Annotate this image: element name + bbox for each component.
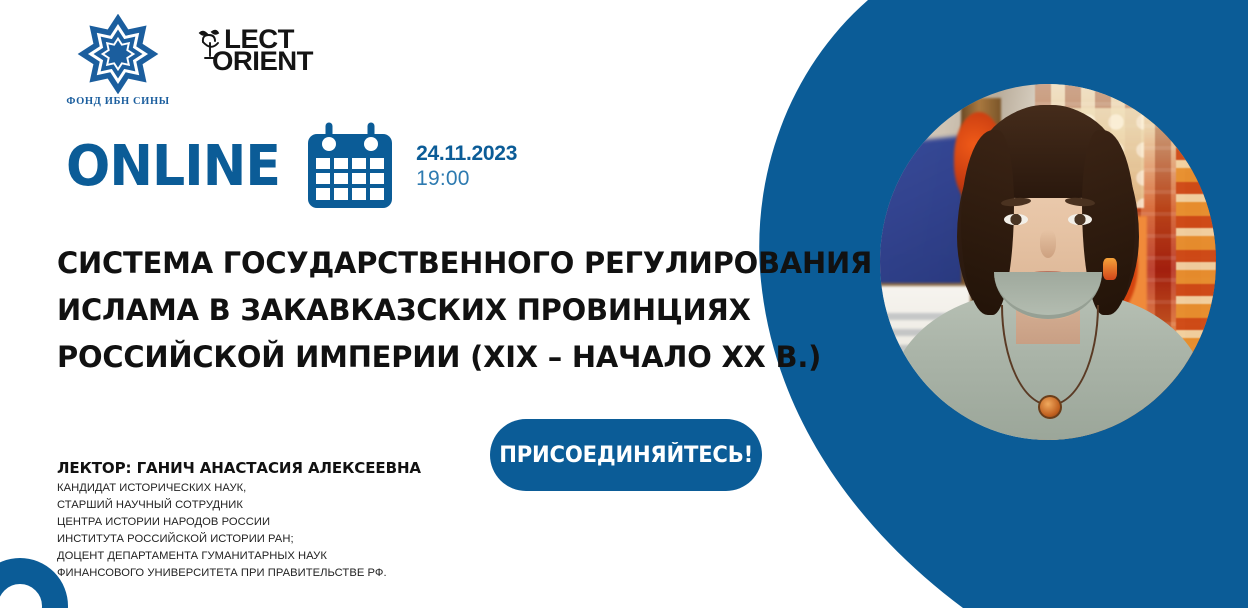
speaker-portrait xyxy=(880,84,1216,440)
calendar-icon xyxy=(302,122,398,212)
credential-line: ЦЕНТРА ИСТОРИИ НАРОДОВ РОССИИ xyxy=(57,514,432,531)
lect-orient-logo: LECT ORIENT xyxy=(198,28,312,72)
online-label: ONLINE xyxy=(66,139,280,195)
webinar-poster: ФОНД ИБН СИНЫ LECT ORIENT ONLINE xyxy=(0,0,1248,608)
lecturer-credentials: КАНДИДАТ ИСТОРИЧЕСКИХ НАУК, СТАРШИЙ НАУЧ… xyxy=(57,480,432,582)
event-datetime: 24.11.2023 19:00 xyxy=(416,142,517,192)
title-line-3: РОССИЙСКОЙ ИМПЕРИИ (XIX – НАЧАЛО XX В.) xyxy=(57,334,743,381)
lect-orient-line2: ORIENT xyxy=(212,50,313,72)
page-title: СИСТЕМА ГОСУДАРСТВЕННОГО РЕГУЛИРОВАНИЯ И… xyxy=(57,240,743,382)
credential-line: ФИНАНСОВОГО УНИВЕРСИТЕТА ПРИ ПРАВИТЕЛЬСТ… xyxy=(57,565,432,582)
logo-row: ФОНД ИБН СИНЫ LECT ORIENT xyxy=(62,14,312,107)
ibn-sina-foundation-logo: ФОНД ИБН СИНЫ xyxy=(62,14,174,107)
join-button[interactable]: ПРИСОЕДИНЯЙТЕСЬ! xyxy=(490,419,762,491)
title-line-2: ИСЛАМА В ЗАКАВКАЗСКИХ ПРОВИНЦИЯХ xyxy=(57,287,743,334)
event-time: 19:00 xyxy=(416,167,517,192)
title-line-1: СИСТЕМА ГОСУДАРСТВЕННОГО РЕГУЛИРОВАНИЯ xyxy=(57,240,743,287)
event-mode-row: ONLINE 24.11.2023 19:00 xyxy=(66,122,517,212)
credential-line: КАНДИДАТ ИСТОРИЧЕСКИХ НАУК, xyxy=(57,480,432,497)
eight-pointed-star-icon xyxy=(75,14,161,94)
event-date: 24.11.2023 xyxy=(416,142,517,167)
lecturer-name: ЛЕКТОР: ГАНИЧ АНАСТАСИЯ АЛЕКСЕЕВНА xyxy=(57,459,421,477)
credential-line: СТАРШИЙ НАУЧНЫЙ СОТРУДНИК xyxy=(57,497,432,514)
foundation-caption: ФОНД ИБН СИНЫ xyxy=(66,96,169,107)
lecturer-block: ЛЕКТОР: ГАНИЧ АНАСТАСИЯ АЛЕКСЕЕВНА КАНДИ… xyxy=(57,459,432,582)
join-button-label: ПРИСОЕДИНЯЙТЕСЬ! xyxy=(499,443,753,468)
credential-line: ДОЦЕНТ ДЕПАРТАМЕНТА ГУМАНИТАРНЫХ НАУК xyxy=(57,548,432,565)
credential-line: ИНСТИТУТА РОССИЙСКОЙ ИСТОРИИ РАН; xyxy=(57,531,432,548)
